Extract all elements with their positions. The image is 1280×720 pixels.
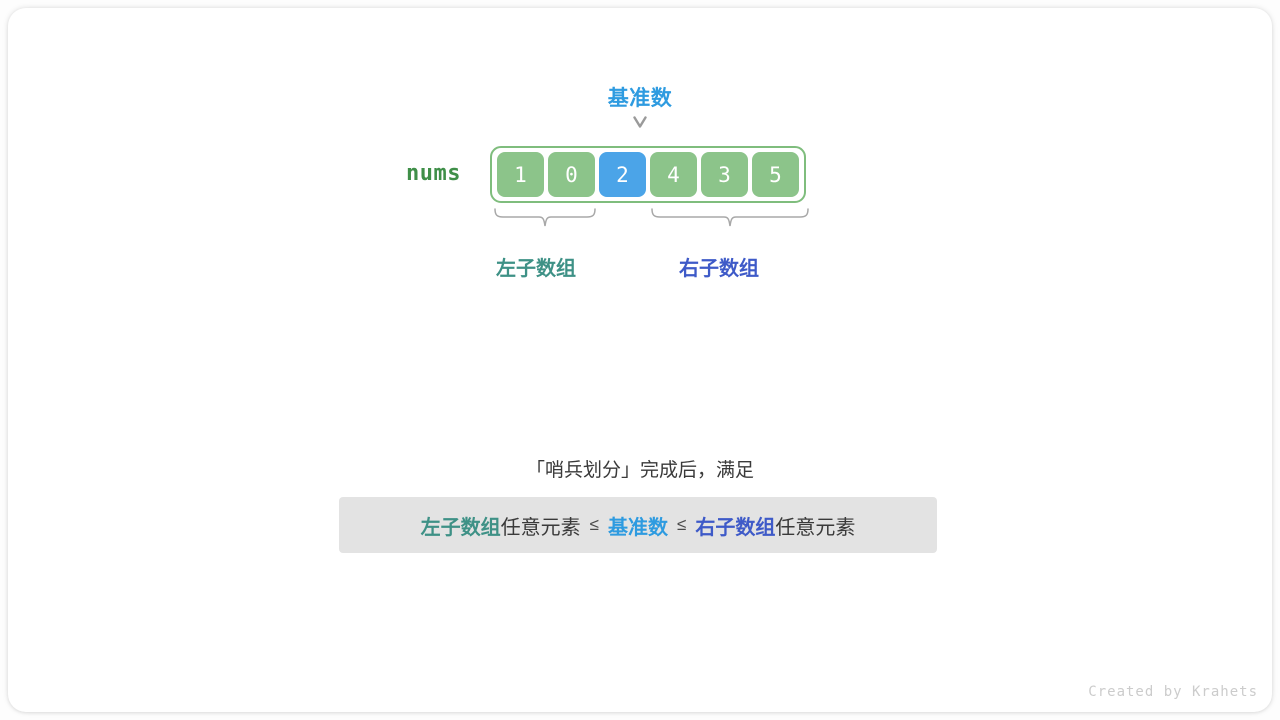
right-subarray-label: 右子数组 — [679, 252, 759, 281]
formula-left-term: 左子数组 — [421, 511, 501, 540]
array-cell: 0 — [548, 152, 595, 197]
array-cell-pivot: 2 — [599, 152, 646, 197]
right-subarray-brace — [650, 208, 810, 233]
formula-box: 左子数组任意元素≤基准数≤右子数组任意元素 — [339, 497, 937, 553]
formula-operator-2: ≤ — [668, 515, 695, 535]
formula-operator-1: ≤ — [581, 515, 608, 535]
array-cell: 4 — [650, 152, 697, 197]
array-cell: 5 — [752, 152, 799, 197]
pivot-caption: 基准数 — [0, 82, 1280, 112]
array-name-label: nums — [406, 161, 461, 186]
formula-left-suffix: 任意元素 — [501, 511, 581, 540]
array-cell: 1 — [497, 152, 544, 197]
array-cell: 3 — [701, 152, 748, 197]
left-subarray-brace — [493, 208, 597, 233]
formula-pivot-term: 基准数 — [608, 511, 668, 540]
watermark-credit: Created by Krahets — [1088, 684, 1258, 700]
formula-right-suffix: 任意元素 — [775, 511, 855, 540]
statement-text: 「哨兵划分」完成后，满足 — [0, 455, 1280, 482]
array-container: 1 0 2 4 3 5 — [490, 146, 806, 203]
formula-right-term: 右子数组 — [695, 511, 775, 540]
left-subarray-label: 左子数组 — [496, 252, 576, 281]
chevron-down-icon — [0, 114, 1280, 129]
diagram-canvas: 基准数 nums 1 0 2 4 3 5 左子数组 右子数组 「哨兵划分」完成后… — [0, 0, 1280, 720]
